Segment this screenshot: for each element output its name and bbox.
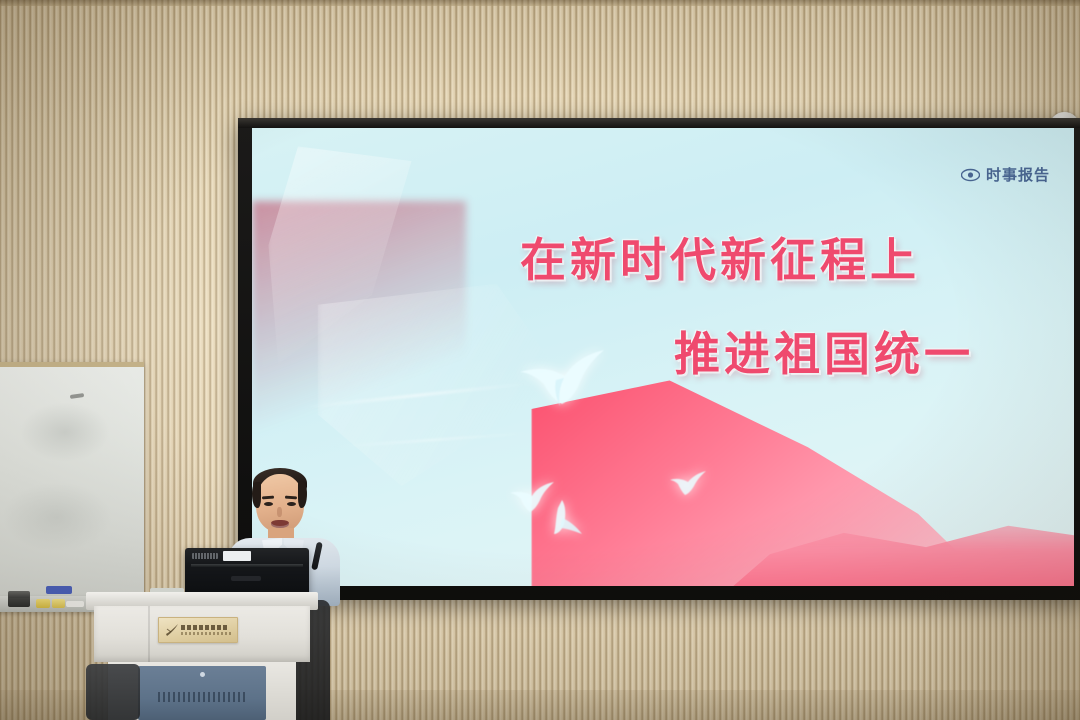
laptop-brand-logo bbox=[192, 553, 218, 559]
lecture-hall-scene: 时事报告 在新时代新征程上 推进祖国统一 bbox=[0, 0, 1080, 720]
presenter-hair-side bbox=[298, 482, 307, 508]
lectern-vent bbox=[158, 692, 246, 702]
laptop-asset-label bbox=[223, 551, 251, 561]
desk-object bbox=[46, 586, 72, 594]
nameplate-subtitle-line bbox=[181, 632, 231, 635]
laptop-hinge bbox=[191, 564, 303, 567]
lectern-indicator-light bbox=[200, 672, 205, 677]
lectern-seam bbox=[148, 606, 150, 662]
laptop-port bbox=[231, 576, 261, 581]
presenter-eye bbox=[264, 502, 273, 506]
chair bbox=[86, 664, 140, 720]
presenter-nose bbox=[277, 507, 282, 517]
presenter-mouth bbox=[271, 520, 289, 528]
nameplate-text-lines bbox=[181, 625, 231, 635]
nameplate-title-line bbox=[181, 625, 227, 630]
swoosh-logo-icon bbox=[165, 623, 179, 637]
presenter-hair-side bbox=[252, 482, 261, 508]
presenter-eye bbox=[287, 502, 296, 506]
institution-nameplate bbox=[158, 617, 238, 643]
